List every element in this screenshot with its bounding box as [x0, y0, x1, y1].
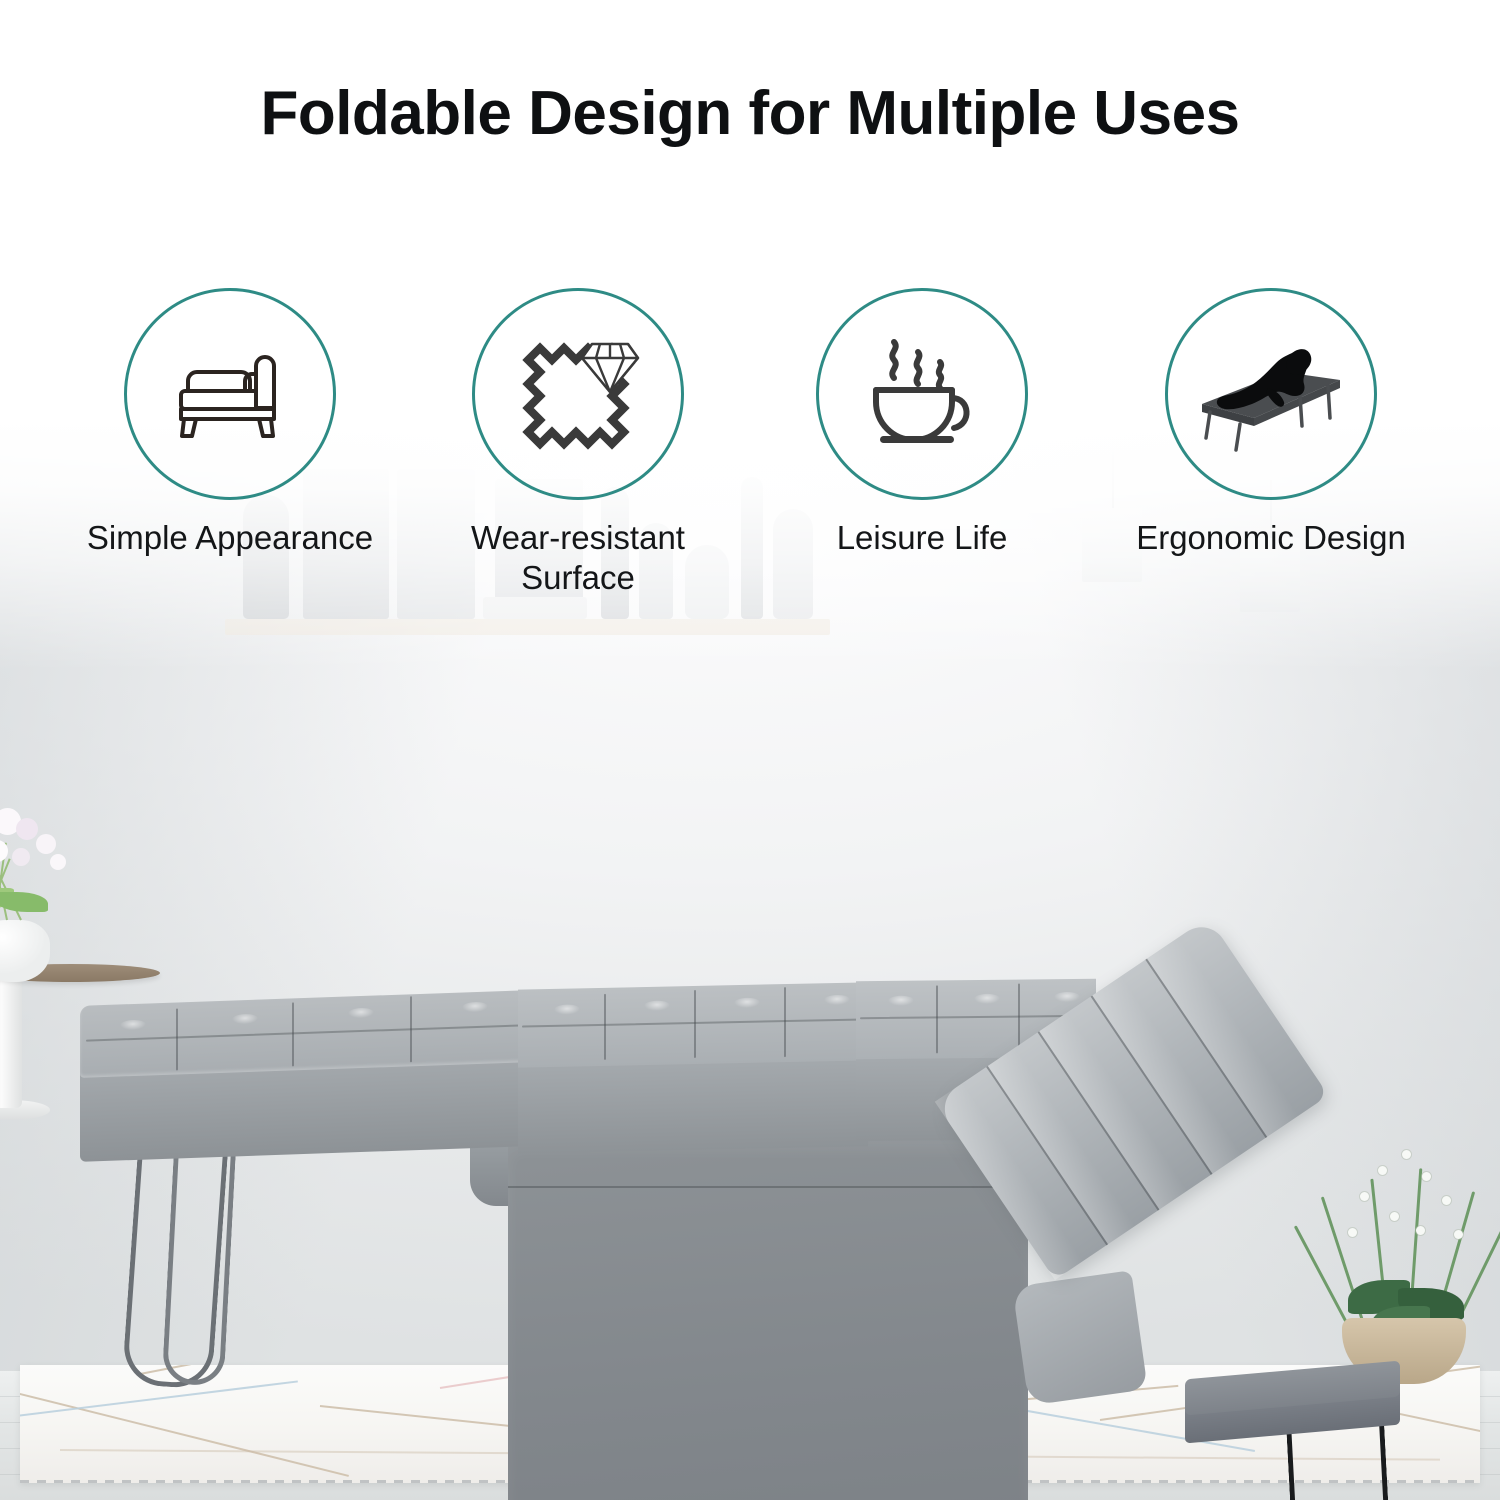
- feature-label: Wear-resistant Surface: [413, 518, 743, 598]
- feature-label-line2: Surface: [521, 559, 635, 596]
- feature-icon-circle: [472, 288, 684, 500]
- feature-label-line1: Simple Appearance: [87, 519, 373, 556]
- hairpin-leg-left-back: [162, 1141, 237, 1387]
- feature-item-ergonomic-design: Ergonomic Design: [1106, 270, 1436, 558]
- seat-panel-center-top: [518, 982, 868, 1067]
- feature-item-leisure-life: Leisure Life: [757, 270, 1087, 558]
- feature-label-line1: Ergonomic Design: [1136, 519, 1406, 556]
- feature-item-simple-appearance: Simple Appearance: [65, 270, 395, 558]
- reclining-person-icon: [1196, 334, 1346, 454]
- feature-icon-circle: [124, 288, 336, 500]
- feature-icon-circle: [816, 288, 1028, 500]
- feature-label: Simple Appearance: [65, 518, 395, 558]
- feature-label: Ergonomic Design: [1106, 518, 1436, 558]
- feature-label-line1: Wear-resistant: [471, 519, 685, 556]
- feature-label-line1: Leisure Life: [837, 519, 1008, 556]
- coffee-cup-icon: [858, 332, 986, 456]
- bed-icon: [165, 339, 295, 449]
- feature-list: Simple Appearance: [0, 270, 1500, 600]
- feature-item-wear-resistant-surface: Wear-resistant Surface: [413, 270, 743, 598]
- page-title: Foldable Design for Multiple Uses: [0, 78, 1500, 149]
- feature-label: Leisure Life: [757, 518, 1087, 558]
- feature-icon-circle: [1165, 288, 1377, 500]
- fabric-diamond-icon: [512, 330, 644, 458]
- backrest-hinge-bolster: [1012, 1270, 1148, 1406]
- product-marketing-image: Foldable Design for Multiple Uses: [0, 0, 1500, 1500]
- sofa-fabric-skirt: [508, 1140, 1028, 1500]
